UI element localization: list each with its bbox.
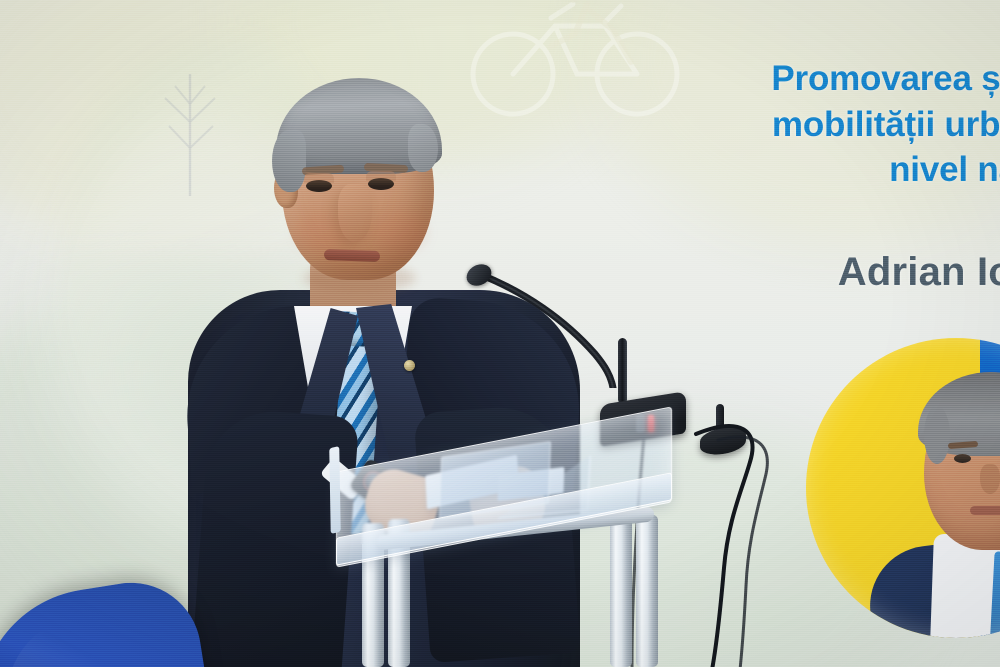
portrait-tie: [989, 551, 1000, 638]
nose: [338, 184, 372, 242]
lectern-post: [610, 517, 632, 667]
eye-left: [306, 180, 332, 192]
lapel-pin: [404, 360, 415, 371]
eye-right: [368, 178, 394, 190]
mouth: [324, 249, 380, 262]
portrait-hair: [918, 372, 1000, 456]
acrylic-lectern: [330, 425, 730, 667]
portrait-eyebrow: [948, 441, 978, 449]
hair: [276, 78, 442, 174]
photo-stage: Promovarea și ge mobilității urbane nive…: [0, 0, 1000, 667]
portrait-suit-right: [996, 531, 1000, 638]
lectern-post: [636, 515, 658, 667]
portrait-eye: [954, 454, 971, 463]
chin-shadow: [304, 264, 416, 292]
portrait-head: [924, 384, 1000, 550]
microphone-stem: [618, 338, 627, 404]
lectern-edge: [329, 446, 340, 534]
portrait-suit-left: [863, 535, 1000, 638]
cheek: [374, 212, 426, 252]
portrait-nose: [980, 464, 1000, 494]
portrait-mouth: [970, 506, 1000, 515]
portrait-shirt: [930, 534, 1000, 638]
